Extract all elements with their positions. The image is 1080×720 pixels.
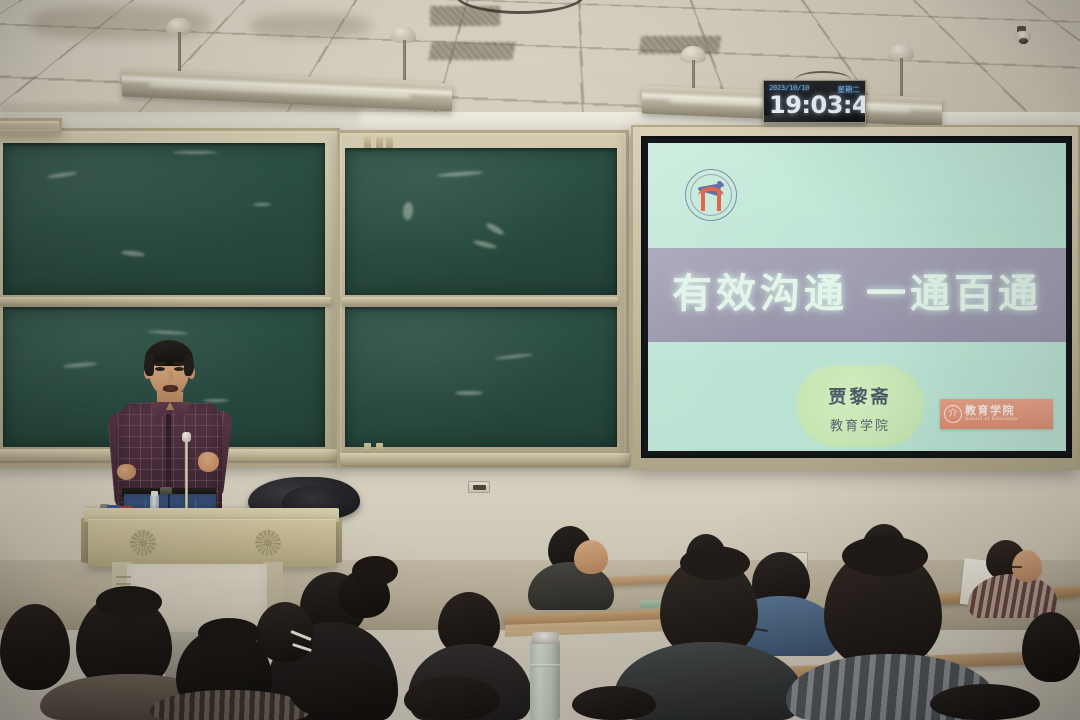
presenter-eye (174, 367, 184, 371)
bottle-cap (151, 491, 158, 496)
chalk-tray (340, 453, 630, 465)
presenter-right-hand (198, 452, 219, 472)
chalk-rail (0, 297, 331, 305)
presenter-nose (166, 371, 173, 382)
eyeglasses-icon (1004, 566, 1022, 568)
microphone-icon[interactable] (182, 432, 191, 442)
hair-tuft (842, 536, 928, 576)
list-item (0, 604, 70, 690)
hair-tuft (96, 586, 162, 618)
hair-tuft (352, 556, 398, 586)
chalk-smudge (495, 353, 533, 360)
list-item (572, 686, 656, 720)
chalkboard-panel[interactable] (3, 143, 325, 295)
camera-lens-icon (1019, 38, 1028, 44)
chalkboard-frame-right (337, 130, 629, 468)
presenter-hair-side (184, 354, 194, 376)
lecture-hall-photo: 有效沟通 一通百通 贾黎斋 教育学院 介 教育学院 School of Educ… (0, 0, 1080, 720)
thermos-lid (532, 632, 559, 644)
chalk-smudge (121, 250, 145, 257)
list-item (574, 540, 608, 574)
hair-tuft (198, 618, 260, 648)
chalk-smudge (437, 170, 483, 177)
thermos-ring (530, 664, 560, 667)
shirt-placket (166, 414, 171, 490)
projection-screen[interactable]: 有效沟通 一通百通 贾黎斋 教育学院 介 教育学院 School of Educ… (631, 125, 1080, 470)
podium-medallion-icon (130, 530, 156, 556)
chalk-smudge (173, 151, 217, 154)
chalk-smudge (148, 330, 188, 335)
chalk-smudge (203, 399, 229, 402)
presenter-affiliation: 教育学院 (796, 415, 924, 434)
lamp-rod (900, 58, 903, 96)
chalk-smudge (485, 221, 505, 236)
chalk-smudge (253, 203, 271, 206)
list-item (930, 684, 1040, 720)
wall-switch-plate[interactable] (468, 481, 490, 493)
board-track (0, 118, 62, 134)
school-badge-cn: 教育学院 (965, 405, 1018, 416)
chalkboard-panel[interactable] (345, 148, 617, 295)
presenter-hair-side (144, 354, 154, 376)
list-item (404, 676, 500, 720)
presentation-slide: 有效沟通 一通百通 贾黎斋 教育学院 介 教育学院 School of Educ… (648, 143, 1066, 451)
hair-tuft (680, 546, 750, 580)
presenter-mouth (163, 385, 178, 392)
lamp-rod (403, 40, 406, 80)
list-item (1022, 612, 1080, 682)
school-seal-icon: 介 (944, 405, 962, 423)
chalk-smudge (47, 171, 77, 179)
ceiling-vent (639, 36, 722, 54)
university-logo-icon (685, 169, 737, 221)
thermos-flask[interactable] (530, 640, 560, 720)
school-badge-en: School of Education (965, 417, 1018, 423)
chalk-smudge (455, 391, 483, 395)
chalk-rail (342, 297, 618, 305)
digital-wall-clock: 2023/10/10 星期二 19:03:46 (763, 80, 866, 123)
ceiling-vent (428, 42, 515, 60)
presenter-name: 贾黎斋 (796, 383, 924, 409)
ceiling-stain (250, 14, 370, 38)
slide-title: 有效沟通 一通百通 (648, 271, 1066, 317)
podium-front-panel[interactable] (88, 519, 336, 567)
podium-medallion-icon (255, 530, 281, 556)
screen-bezel: 有效沟通 一通百通 贾黎斋 教育学院 介 教育学院 School of Educ… (641, 136, 1072, 458)
chalk-smudge (402, 202, 413, 221)
chalkboard-panel[interactable] (345, 307, 617, 447)
chalk-smudge (473, 239, 497, 250)
presenter-eye (155, 367, 165, 371)
school-of-education-badge: 介 教育学院 School of Education (940, 399, 1053, 429)
list-item (290, 658, 398, 720)
chalk-smudge (63, 362, 97, 369)
presenter-left-hand (117, 464, 136, 480)
